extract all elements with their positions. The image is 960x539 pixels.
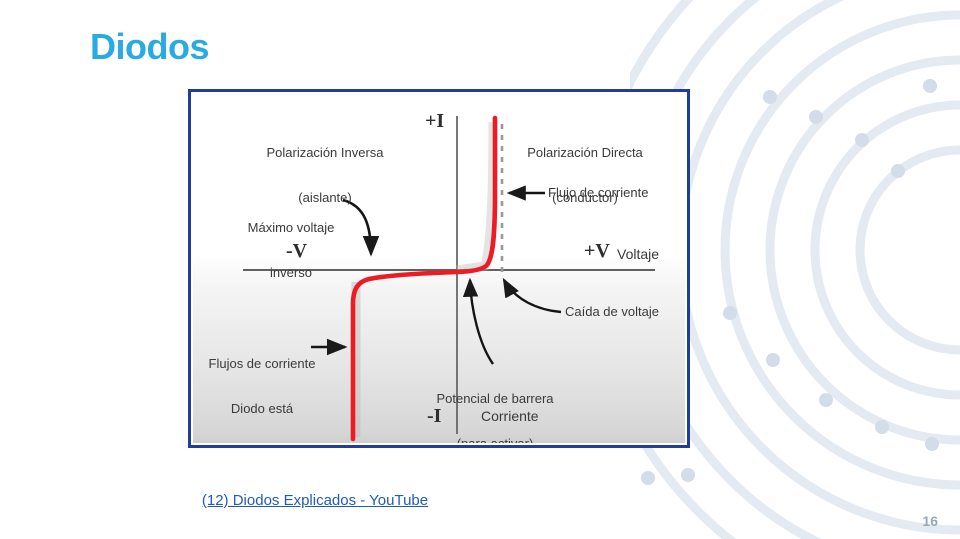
source-caption: (12) Diodos Explicados - YouTube xyxy=(0,492,630,509)
diode-iv-curve-figure: Polarización Inversa (aislante) Polariza… xyxy=(188,89,690,448)
axis-label-positive-voltage: +V xyxy=(584,240,610,263)
annotation-max-reverse-voltage-line1: Máximo voltaje xyxy=(221,220,361,235)
page-number: 16 xyxy=(922,513,938,529)
axis-title-current: Corriente xyxy=(481,408,539,424)
axis-title-voltage: Voltaje xyxy=(617,246,659,262)
axis-label-positive-current: +I xyxy=(425,110,444,133)
figure-canvas: Polarización Inversa (aislante) Polariza… xyxy=(193,94,685,443)
annotation-dead-diode-line1: Flujos de corriente xyxy=(203,356,321,371)
label-reverse-bias-line1: Polarización Inversa xyxy=(225,145,425,160)
voltage-drop-arrow xyxy=(504,280,561,312)
slide-canvas: Diodos xyxy=(0,0,960,539)
annotation-barrier-potential: Potencial de barrera (para activar) xyxy=(405,361,585,443)
axis-label-negative-voltage: -V xyxy=(286,240,307,263)
barrier-potential-arrow xyxy=(470,280,493,364)
annotation-max-reverse-voltage-line2: inverso xyxy=(221,265,361,280)
annotation-barrier-potential-line1: Potencial de barrera xyxy=(405,391,585,406)
annotation-barrier-potential-line2: (para activar) xyxy=(405,436,585,443)
annotation-dead-diode: Flujos de corriente Diodo está muerto xyxy=(203,326,321,443)
source-link[interactable]: (12) Diodos Explicados - YouTube xyxy=(202,492,428,509)
annotation-dead-diode-line2: Diodo está xyxy=(203,401,321,416)
label-forward-bias-line1: Polarización Directa xyxy=(485,145,685,160)
label-forward-bias: Polarización Directa (conductor) xyxy=(485,115,685,235)
page-title: Diodos xyxy=(90,26,209,68)
axis-label-negative-current: -I xyxy=(427,405,441,428)
annotation-current-flow: Flujo de corriente xyxy=(548,185,648,200)
annotation-voltage-drop: Caída de voltaje xyxy=(565,304,659,319)
